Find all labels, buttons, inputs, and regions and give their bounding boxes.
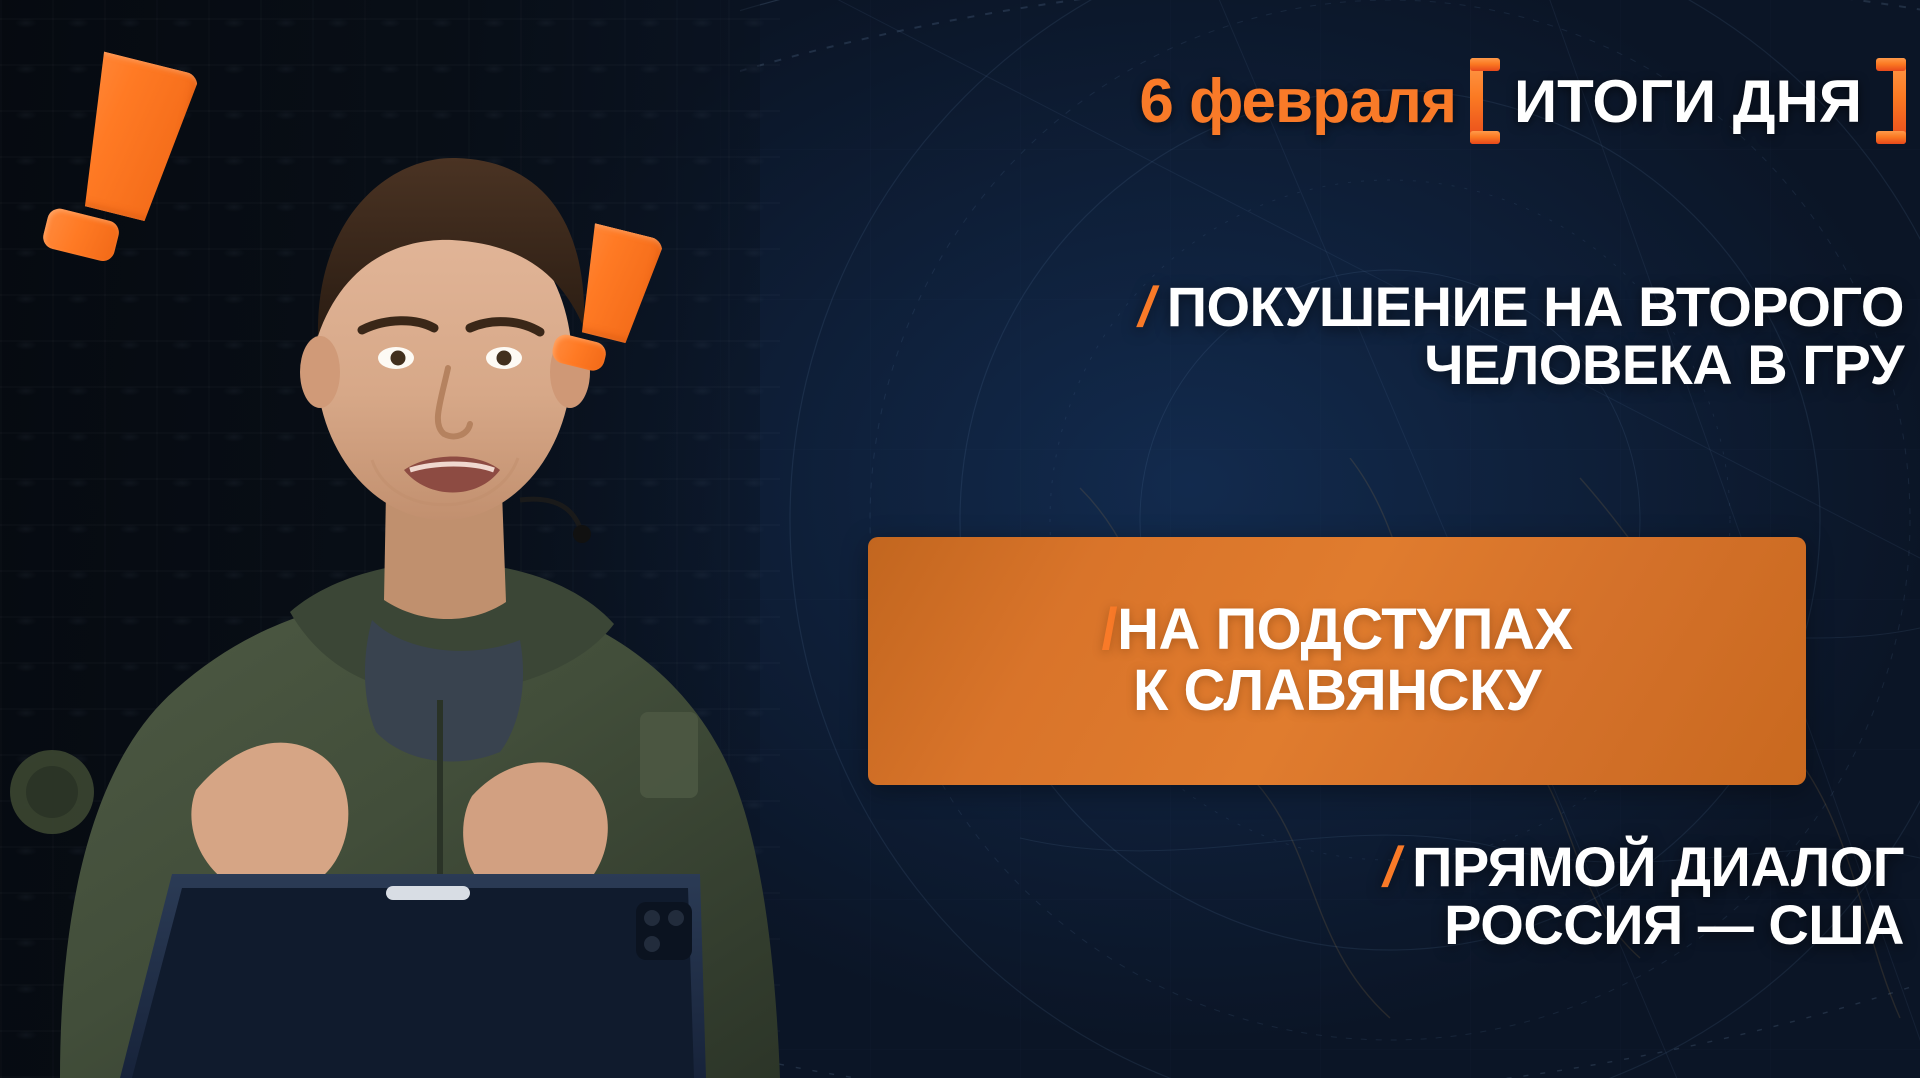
headline-1-text-2: ЧЕЛОВЕКА В ГРУ [1104,336,1904,394]
headline-2-text-2: К СЛАВЯНСКУ [1101,661,1572,722]
program-header: 6 февраля ИТОГИ ДНЯ [1139,58,1906,144]
exclamation-dot [550,333,609,374]
slash-icon: / [1379,838,1406,896]
bracket-open-icon [1470,58,1500,144]
headline-item-3: /ПРЯМОЙ ДИАЛОГ РОССИЯ — США [1104,838,1904,953]
headline-column: 6 февраля ИТОГИ ДНЯ /ПОКУШЕНИЕ НА ВТОРОГ… [910,0,1920,1078]
broadcast-screen: 6 февраля ИТОГИ ДНЯ /ПОКУШЕНИЕ НА ВТОРОГ… [0,0,1920,1078]
headline-3-text-2: РОССИЯ — США [1104,896,1904,954]
headline-2-text: /НА ПОДСТУПАХ К СЛАВЯНСКУ [1075,600,1598,722]
headline-3-text-1: ПРЯМОЙ ДИАЛОГ [1412,835,1904,898]
headline-item-2-highlighted: /НА ПОДСТУПАХ К СЛАВЯНСКУ [868,537,1806,785]
broadcast-date: 6 февраля [1139,66,1456,137]
headline-item-1: /ПОКУШЕНИЕ НА ВТОРОГО ЧЕЛОВЕКА В ГРУ [1104,278,1904,393]
headline-1-line-1: /ПОКУШЕНИЕ НА ВТОРОГО [1104,278,1904,336]
slash-icon: / [1101,597,1117,662]
headline-2-line-1: /НА ПОДСТУПАХ [1101,600,1572,661]
headline-1-text-1: ПОКУШЕНИЕ НА ВТОРОГО [1167,275,1904,338]
program-title: ИТОГИ ДНЯ [1514,67,1862,136]
exclamation-dot [41,206,122,263]
bracket-close-icon [1876,58,1906,144]
headline-3-line-1: /ПРЯМОЙ ДИАЛОГ [1104,838,1904,896]
headline-2-text-1: НА ПОДСТУПАХ [1117,597,1572,662]
slash-icon: / [1133,278,1160,336]
